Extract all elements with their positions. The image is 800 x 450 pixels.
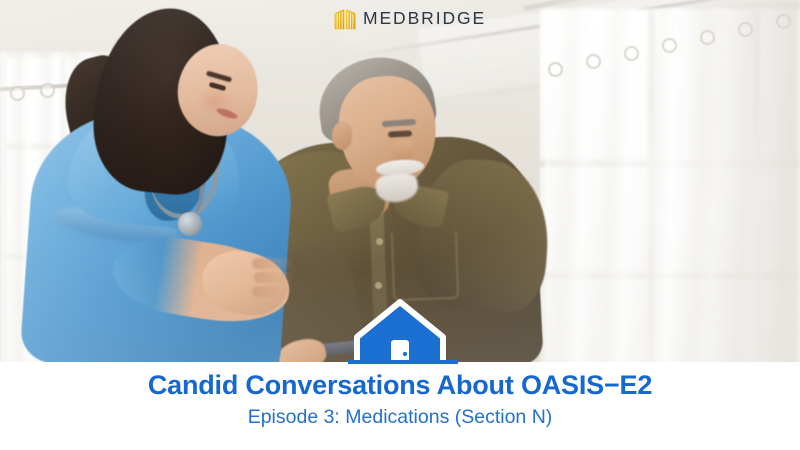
stethoscope-bell-icon	[178, 212, 202, 236]
patient-nose	[392, 140, 414, 162]
shirt-button	[376, 238, 383, 245]
house-ground-line	[348, 360, 458, 364]
curtain-grommet	[586, 54, 601, 69]
page-subtitle: Episode 3: Medications (Section N)	[248, 406, 553, 429]
curtain-grommet	[40, 83, 55, 98]
title-banner: Candid Conversations About OASIS−E2 Epis…	[0, 362, 800, 450]
curtain-grommet	[624, 46, 639, 61]
curtain-grommet	[10, 86, 25, 101]
medbridge-bridge-mark-icon	[334, 8, 356, 30]
curtain-grommet	[548, 62, 563, 77]
patient-eye	[388, 130, 412, 137]
nurse-finger	[252, 258, 294, 269]
shirt-pocket	[391, 231, 459, 301]
medbridge-logo: MEDBRIDGE	[334, 8, 486, 30]
nurse-finger	[254, 272, 294, 283]
shirt-button	[375, 282, 382, 289]
wall-corner-shadow	[670, 0, 800, 366]
nurse-finger	[252, 286, 288, 297]
medbridge-wordmark: MEDBRIDGE	[363, 10, 486, 28]
title-slide: MEDBRIDGE Candid Conversations About OAS…	[0, 0, 800, 450]
page-title: Candid Conversations About OASIS−E2	[148, 370, 652, 400]
patient-ear	[332, 122, 352, 150]
home-health-house-icon	[352, 298, 448, 368]
